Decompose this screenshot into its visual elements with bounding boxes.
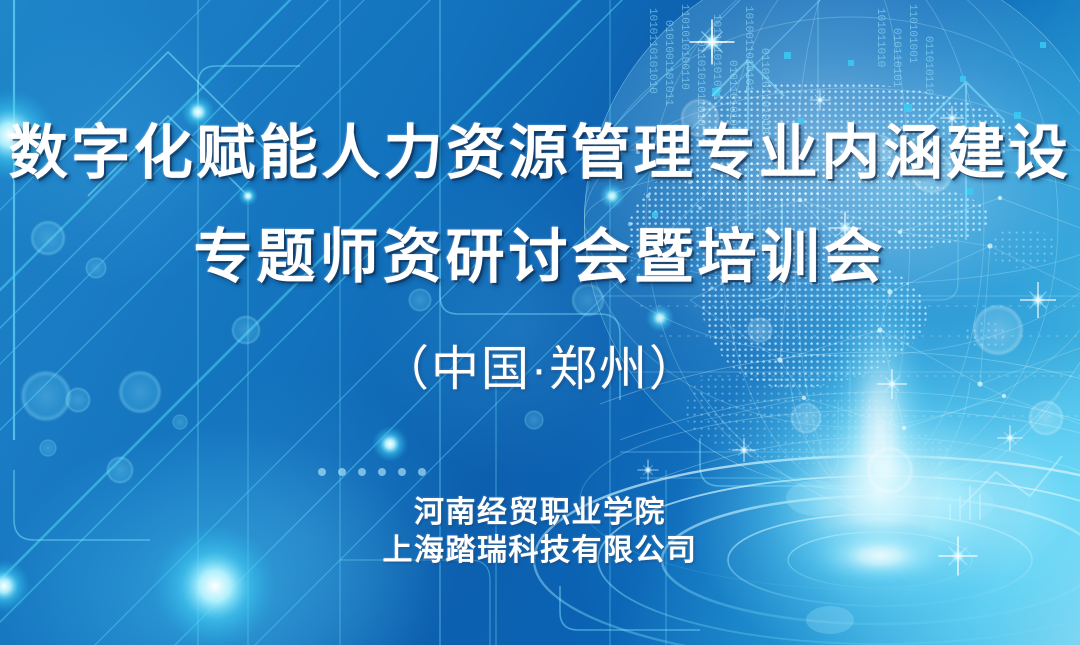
organizer-name-2: 上海踏瑞科技有限公司 (0, 532, 1080, 570)
location-subtitle: （中国·郑州） (0, 346, 1080, 394)
organizer-name-1: 河南经贸职业学院 (0, 494, 1080, 532)
title-line-2: 专题师资研讨会暨培训会 (0, 228, 1080, 287)
title-line-1: 数字化赋能人力资源管理专业内涵建设 (0, 124, 1080, 183)
conference-banner: 1010110101010 0101001101011 110101010011… (0, 0, 1080, 645)
organizer-list: 河南经贸职业学院 上海踏瑞科技有限公司 (0, 494, 1080, 570)
banner-text-content: 数字化赋能人力资源管理专业内涵建设 专题师资研讨会暨培训会 （中国·郑州） 河南… (0, 0, 1080, 645)
